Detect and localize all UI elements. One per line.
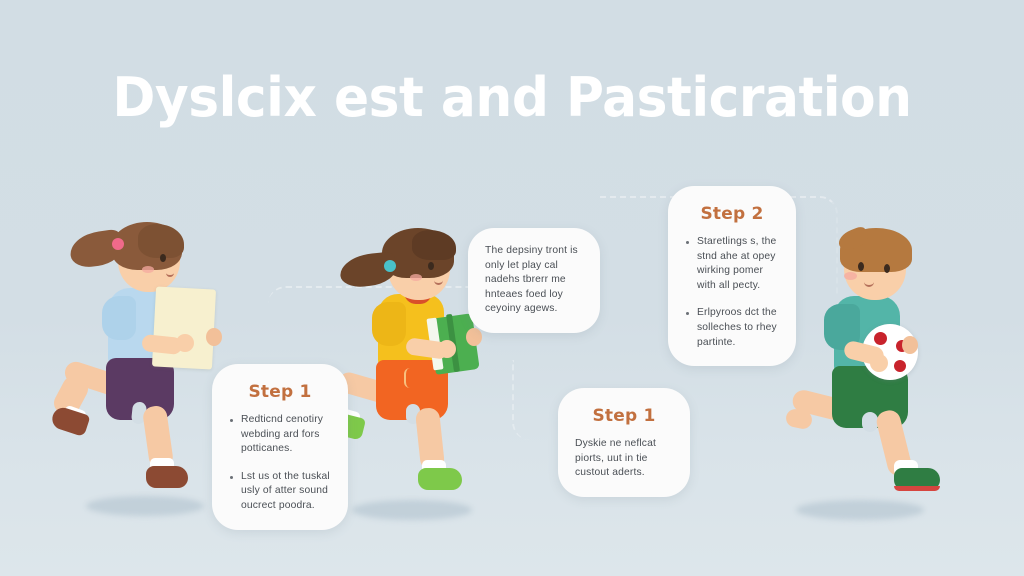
figure-girl-with-paper bbox=[50, 210, 230, 500]
list-item: Redticnd cenotiry webding ard fors potti… bbox=[229, 413, 331, 457]
cheek bbox=[142, 266, 154, 273]
list-item: Erlpyroos dct the solleches to rhey part… bbox=[685, 306, 779, 350]
card-heading: Step 1 bbox=[575, 406, 673, 426]
step-card-1[interactable]: Step 1 Redticnd cenotiry webding ard for… bbox=[212, 364, 348, 530]
hand-back bbox=[206, 328, 222, 346]
bullet-list: Redticnd cenotiry webding ard fors potti… bbox=[229, 413, 331, 514]
paper-sheet bbox=[152, 286, 216, 369]
front-shoe bbox=[146, 466, 188, 488]
eye-2 bbox=[858, 262, 864, 271]
poster-canvas: Dyslcix est and Pasticration bbox=[0, 0, 1024, 576]
hair-tie bbox=[384, 260, 396, 272]
back-shoe bbox=[49, 405, 90, 437]
eye bbox=[428, 262, 434, 270]
figure-boy-with-ball bbox=[796, 224, 986, 510]
cheek bbox=[410, 274, 422, 281]
ball-spot-4 bbox=[894, 360, 906, 372]
sleeve bbox=[102, 296, 136, 340]
hair-fringe bbox=[412, 230, 456, 260]
card-body-text: Dyskie ne neflcat piorts, uut in tie cus… bbox=[575, 437, 673, 481]
page-title: Dyslcix est and Pasticration bbox=[20, 66, 1003, 129]
hair-fringe bbox=[138, 224, 184, 258]
card-heading: Step 2 bbox=[685, 204, 779, 224]
front-shoe bbox=[418, 468, 462, 490]
eye bbox=[884, 264, 890, 273]
hand-front bbox=[870, 354, 888, 372]
step-card-2[interactable]: Step 2 Staretlings s, the stnd ahe at op… bbox=[668, 186, 796, 366]
shorts-tie bbox=[404, 368, 416, 388]
hand-front bbox=[438, 340, 456, 358]
step-card-1b[interactable]: Step 1 Dyskie ne neflcat piorts, uut in … bbox=[558, 388, 690, 497]
card-body-text: The depsiny tront is only let play cal n… bbox=[485, 244, 583, 317]
hand-back bbox=[902, 336, 918, 354]
list-item: Staretlings s, the stnd ahe at opey wirk… bbox=[685, 235, 779, 293]
note-card[interactable]: The depsiny tront is only let play cal n… bbox=[468, 228, 600, 333]
sleeve bbox=[372, 302, 406, 346]
card-heading: Step 1 bbox=[229, 382, 331, 402]
eye bbox=[160, 254, 166, 262]
hand-front bbox=[176, 334, 194, 352]
cheek bbox=[844, 272, 857, 280]
hand-back bbox=[466, 328, 482, 346]
hair-tie bbox=[112, 238, 124, 250]
bullet-list: Staretlings s, the stnd ahe at opey wirk… bbox=[685, 235, 779, 350]
ball-spot-1 bbox=[874, 332, 887, 345]
shoe-sole bbox=[894, 486, 940, 491]
list-item: Lst us ot the tuskal usly of atter sound… bbox=[229, 470, 331, 514]
